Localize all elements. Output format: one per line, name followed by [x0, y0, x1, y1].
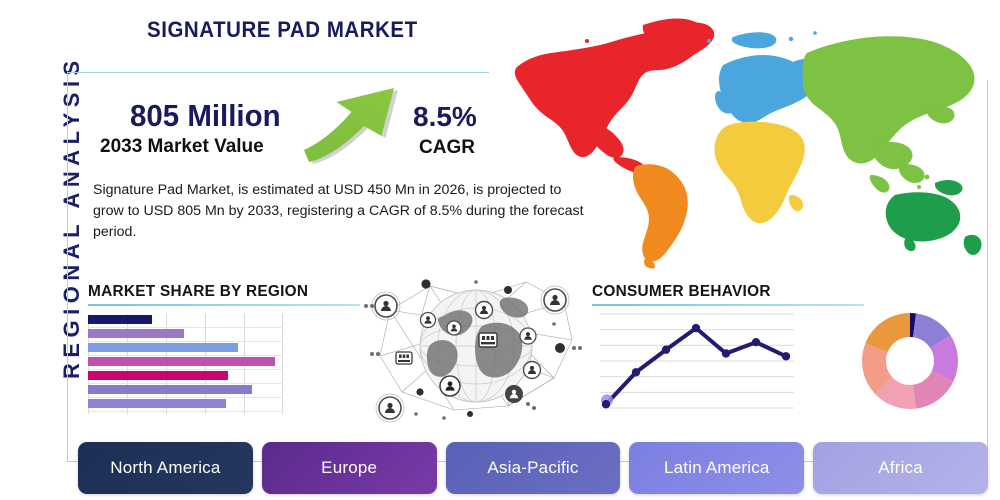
- table-row: [88, 329, 184, 338]
- region-tab-label: North America: [110, 458, 220, 478]
- region-tab-label: Asia-Pacific: [487, 458, 578, 478]
- table-row: [88, 399, 226, 408]
- region-tab-label: Latin America: [664, 458, 770, 478]
- table-row: [88, 371, 228, 380]
- region-tab-asia-pacific[interactable]: Asia-Pacific: [446, 442, 621, 494]
- region-tab-label: Europe: [321, 458, 377, 478]
- kpi-cagr-value: 8.5%: [413, 101, 477, 133]
- table-row: [88, 315, 152, 324]
- kpi-market-value-caption: 2033 Market Value: [100, 136, 264, 158]
- infographic-root: REGIONAL ANALYSIS SIGNATURE PAD MARKET 8…: [0, 0, 1000, 500]
- section-title-market-share: MARKET SHARE BY REGION: [88, 283, 308, 301]
- region-share-donut-chart: [855, 305, 965, 417]
- vertical-section-label: REGIONAL ANALYSIS: [59, 59, 85, 379]
- region-tab-africa[interactable]: Africa: [813, 442, 988, 494]
- kpi-market-value: 805 Million: [130, 98, 281, 134]
- globe-network-icon: [358, 268, 593, 426]
- consumer-behavior-line-chart: [598, 308, 796, 416]
- table-row: [88, 357, 275, 366]
- market-share-bar-chart: [88, 314, 283, 414]
- region-tab-north-america[interactable]: North America: [78, 442, 253, 494]
- region-tabs: North America Europe Asia-Pacific Latin …: [78, 442, 988, 494]
- section-title-consumer-behavior: CONSUMER BEHAVIOR: [592, 283, 771, 301]
- region-tab-label: Africa: [878, 458, 923, 478]
- section-rule-consumer-behavior: [592, 304, 864, 306]
- growth-arrow-icon: [300, 82, 425, 170]
- region-tab-latin-america[interactable]: Latin America: [629, 442, 804, 494]
- section-rule-market-share: [88, 304, 360, 306]
- world-map-icon: [495, 5, 995, 270]
- region-tab-europe[interactable]: Europe: [262, 442, 437, 494]
- kpi-cagr-caption: CAGR: [419, 137, 475, 159]
- table-row: [88, 385, 252, 394]
- table-row: [88, 343, 238, 352]
- page-title: SIGNATURE PAD MARKET: [147, 17, 418, 43]
